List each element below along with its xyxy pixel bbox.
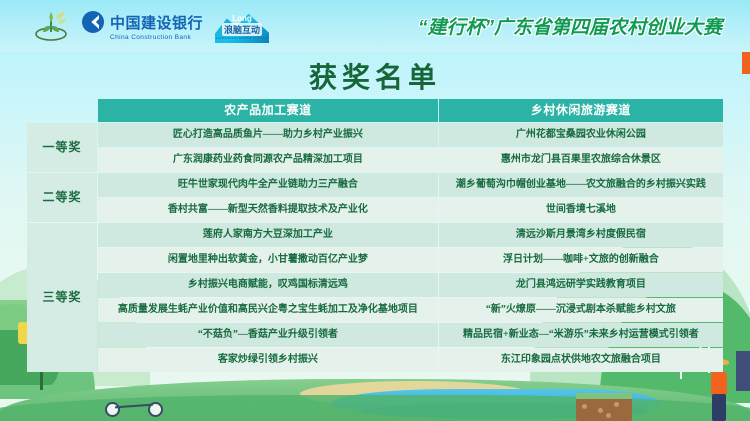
langchao-logo-top: Long: [232, 14, 252, 23]
column-header-agri-track: 农产品加工赛道: [98, 99, 438, 122]
agri-track-cell: “不菇负”—香菇产业升级引领者: [98, 323, 438, 347]
slide-canvas: 中国建设银行 China Construction Bank Long 浪脑互动…: [0, 0, 750, 421]
langchao-logo-cn: 浪脑互动: [222, 23, 262, 36]
table-row: 闲置地里种出软黄金，小甘薯撒动百亿产业梦浮日计划——咖啡+文旅的创新融合: [27, 248, 723, 272]
event-title: “建行杯”广东省第四届农村创业大赛: [418, 13, 722, 40]
farmer-body: [711, 371, 727, 395]
tourism-track-cell: 广州花都宝桑园农业休闲公园: [439, 123, 723, 147]
table-header-row: 农产品加工赛道 乡村休闲旅游赛道: [27, 99, 723, 122]
tourism-track-cell: 浮日计划——咖啡+文旅的创新融合: [439, 248, 723, 272]
ccb-name-en: China Construction Bank: [110, 34, 203, 41]
agri-track-cell: 莲府人家南方大豆深加工产业: [98, 223, 438, 247]
award-table-head: 农产品加工赛道 乡村休闲旅游赛道: [27, 99, 723, 122]
award-table-container: 农产品加工赛道 乡村休闲旅游赛道 一等奖匠心打造高品质鱼片——助力乡村产业振兴广…: [26, 98, 724, 373]
soil-block-decoration: [576, 393, 632, 421]
china-construction-bank-logo: 中国建设银行 China Construction Bank: [82, 11, 203, 41]
award-table: 农产品加工赛道 乡村休闲旅游赛道 一等奖匠心打造高品质鱼片——助力乡村产业振兴广…: [26, 98, 724, 373]
bicycle-wheel-front: [105, 402, 120, 417]
header-bar: 中国建设银行 China Construction Bank Long 浪脑互动…: [0, 0, 750, 52]
ccb-name-cn: 中国建设银行: [110, 12, 203, 33]
column-header-rank: [27, 99, 97, 122]
table-row: “不菇负”—香菇产业升级引领者精品民宿+新业态—“米游乐”未来乡村运营模式引领者: [27, 323, 723, 347]
ccb-primary-row: 中国建设银行: [82, 11, 203, 33]
tourism-track-cell: 精品民宿+新业态—“米游乐”未来乡村运营模式引领者: [439, 323, 723, 347]
langchao-interactive-logo: Long 浪脑互动 LANGNAO INTERACTIVE: [215, 9, 269, 43]
page-title: 获奖名单: [0, 56, 750, 96]
agri-track-cell: 广东润康药业药食同源农产品精深加工项目: [98, 148, 438, 172]
table-row: 广东润康药业药食同源农产品精深加工项目惠州市龙门县百果里农旅综合休景区: [27, 148, 723, 172]
tourism-track-cell: 龙门县鸿远研学实践教育项目: [439, 273, 723, 297]
bicycle-illustration: [105, 399, 163, 417]
ground-decoration: [0, 379, 750, 421]
bicycle-wheel-rear: [148, 402, 163, 417]
tourism-track-cell: 潮乡葡萄沟巾帽创业基地——农文旅融合的乡村振兴实践: [439, 173, 723, 197]
sand-field-decoration: [300, 381, 530, 407]
logo-group: 中国建设银行 China Construction Bank Long 浪脑互动…: [32, 9, 269, 43]
table-row: 一等奖匠心打造高品质鱼片——助力乡村产业振兴广州花都宝桑园农业休闲公园: [27, 123, 723, 147]
rank-cell: 三等奖: [27, 223, 97, 372]
table-row: 乡村振兴电商赋能，叹鸡国标清远鸡龙门县鸿远研学实践教育项目: [27, 273, 723, 297]
tourism-track-cell: 世间香境七溪地: [439, 198, 723, 222]
award-table-body: 一等奖匠心打造高品质鱼片——助力乡村产业振兴广州花都宝桑园农业休闲公园广东润康药…: [27, 123, 723, 372]
agri-track-cell: 乡村振兴电商赋能，叹鸡国标清远鸡: [98, 273, 438, 297]
table-row: 高质量发展生蚝产业价值和高民兴企粤之宝生蚝加工及净化基地项目“新”火燎原——沉浸…: [27, 298, 723, 322]
agri-track-cell: 客家炒绿引领乡村振兴: [98, 348, 438, 372]
ground-foreground-decoration: [0, 395, 750, 421]
rank-cell: 二等奖: [27, 173, 97, 222]
tourism-track-cell: “新”火燎原——沉浸式剧本杀赋能乡村文旅: [439, 298, 723, 322]
column-header-tourism-track: 乡村休闲旅游赛道: [439, 99, 723, 122]
agri-track-cell: 高质量发展生蚝产业价值和高民兴企粤之宝生蚝加工及净化基地项目: [98, 298, 438, 322]
rank-cell: 一等奖: [27, 123, 97, 172]
table-row: 三等奖莲府人家南方大豆深加工产业清远沙斯月景湾乡村度假民宿: [27, 223, 723, 247]
river-decoration: [330, 389, 660, 413]
tourism-track-cell: 东江印象园点状供地农文旅融合项目: [439, 348, 723, 372]
bicycle-frame: [115, 404, 153, 409]
agri-track-cell: 闲置地里种出软黄金，小甘薯撒动百亿产业梦: [98, 248, 438, 272]
table-row: 香村共富——新型天然香料提取技术及产业化世间香境七溪地: [27, 198, 723, 222]
table-row: 客家炒绿引领乡村振兴东江印象园点状供地农文旅融合项目: [27, 348, 723, 372]
agri-track-cell: 旺牛世家现代肉牛全产业链助力三产融合: [98, 173, 438, 197]
agri-track-cell: 匠心打造高品质鱼片——助力乡村产业振兴: [98, 123, 438, 147]
agri-track-cell: 香村共富——新型天然香料提取技术及产业化: [98, 198, 438, 222]
langchao-logo-sub: LANGNAO INTERACTIVE: [216, 36, 269, 40]
river-decoration-inner: [360, 403, 650, 419]
tourism-track-cell: 清远沙斯月景湾乡村度假民宿: [439, 223, 723, 247]
farmer-legs: [712, 394, 726, 421]
wheat-emblem-logo: [32, 10, 70, 42]
building-decoration-right: [736, 351, 750, 391]
ccb-diamond-icon: [82, 11, 104, 33]
wheat-emblem-icon: [32, 10, 70, 42]
tourism-track-cell: 惠州市龙门县百果里农旅综合休景区: [439, 148, 723, 172]
table-row: 二等奖旺牛世家现代肉牛全产业链助力三产融合潮乡葡萄沟巾帽创业基地——农文旅融合的…: [27, 173, 723, 197]
